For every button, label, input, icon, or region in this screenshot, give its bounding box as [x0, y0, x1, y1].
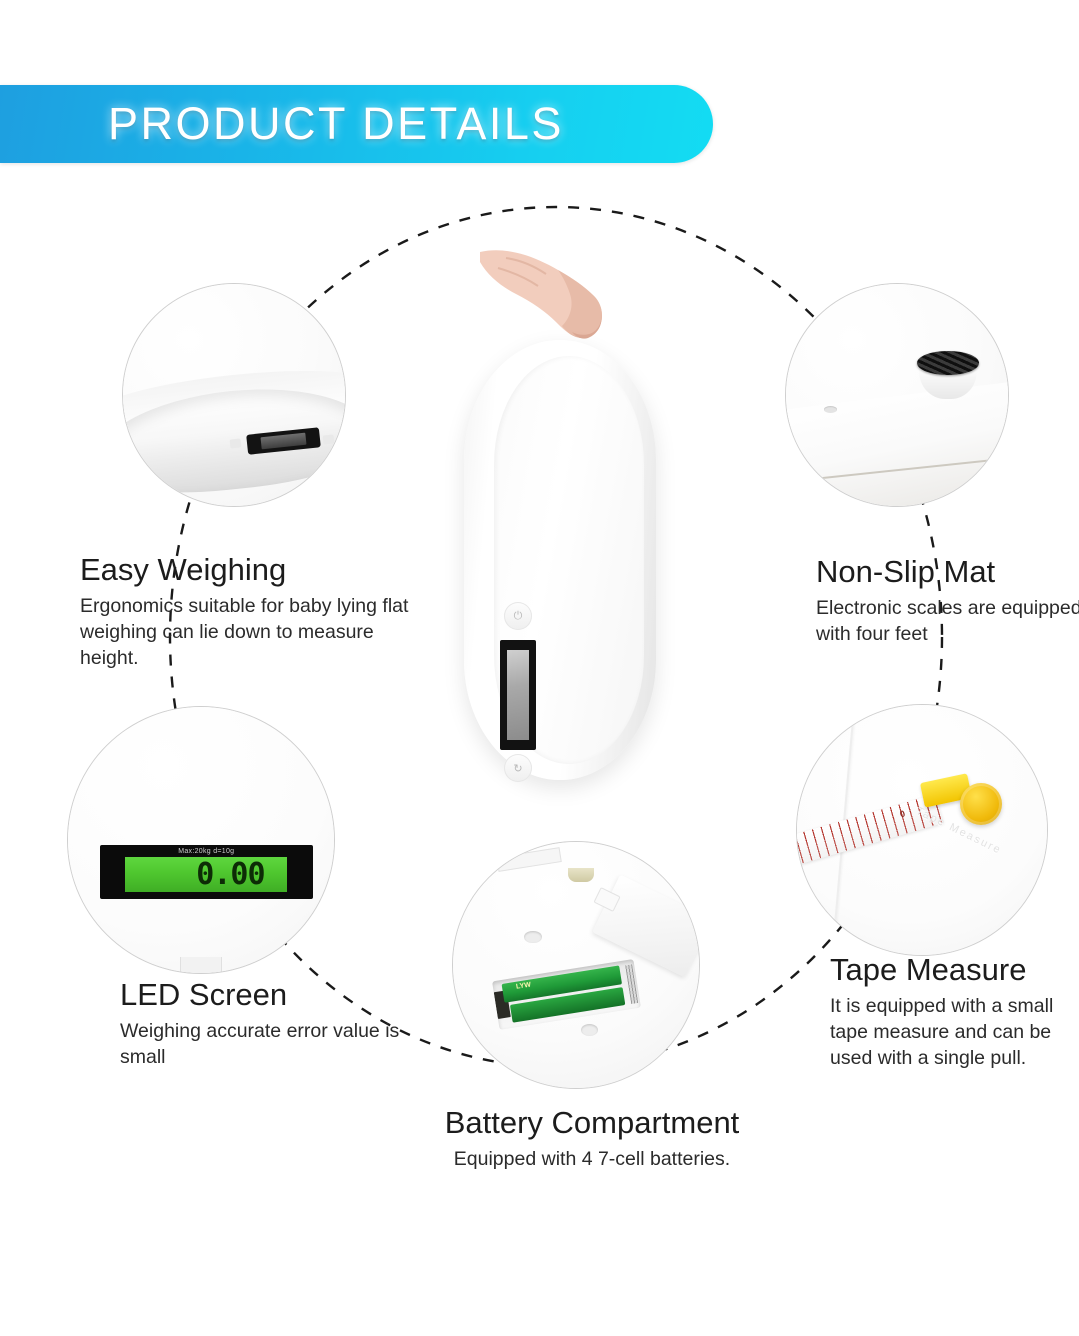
lcd-spec-label: Max:20kg d=10g	[178, 848, 234, 856]
non-slip-rubber-foot-icon	[917, 351, 979, 375]
feature-description: Equipped with 4 7-cell batteries.	[392, 1147, 792, 1173]
feature-text-non-slip-mat: Non-Slip Mat Electronic scales are equip…	[816, 555, 1079, 648]
power-icon: ⏻	[514, 610, 523, 623]
tray-button-left	[229, 439, 241, 449]
feature-title: Easy Weighing	[80, 553, 410, 587]
tray-lcd-glass	[261, 432, 307, 449]
feature-text-led-screen: LED Screen Weighing accurate error value…	[120, 978, 420, 1071]
scale-base-stand	[180, 957, 223, 974]
feature-image-led-screen: Max:20kg d=10g 0.00	[67, 706, 335, 974]
tape-pull-ring-icon	[960, 783, 1003, 826]
lcd-green-backlight: 0.00	[125, 857, 287, 892]
power-button[interactable]: ⏻	[504, 602, 532, 630]
feature-text-battery-compartment: Battery Compartment Equipped with 4 7-ce…	[392, 1106, 792, 1173]
feature-title: LED Screen	[120, 978, 420, 1012]
photo-background	[68, 707, 334, 973]
screw-hole-upper	[524, 931, 541, 943]
screw-hole	[824, 406, 837, 413]
feature-description: It is equipped with a small tape measure…	[830, 994, 1079, 1071]
feature-description: Weighing accurate error value is small	[120, 1019, 420, 1070]
page-header-banner: PRODUCT DETAILS	[0, 85, 713, 163]
tray-button-right	[322, 434, 334, 444]
scale-lcd-glass	[507, 650, 529, 740]
feature-image-easy-weighing	[122, 283, 346, 507]
scale-lcd-panel	[500, 640, 536, 750]
feature-title: Battery Compartment	[392, 1106, 792, 1140]
feature-image-non-slip-mat	[785, 283, 1009, 507]
tare-button[interactable]: ↻	[504, 754, 532, 782]
scale-foot	[568, 868, 594, 882]
feature-title: Tape Measure	[830, 953, 1079, 987]
feature-description: Ergonomics suitable for baby lying flat …	[80, 594, 410, 671]
baby-scale-body: ⏻ ↻	[464, 340, 656, 780]
lcd-bezel: Max:20kg d=10g 0.00	[100, 845, 313, 898]
feature-title: Non-Slip Mat	[816, 555, 1079, 589]
feature-text-easy-weighing: Easy Weighing Ergonomics suitable for ba…	[80, 553, 410, 671]
hero-product-image: ⏻ ↻	[430, 240, 690, 800]
page-title: PRODUCT DETAILS	[108, 98, 564, 150]
lcd-weight-reading: 0.00	[196, 860, 287, 890]
feature-text-tape-measure: Tape Measure It is equipped with a small…	[830, 953, 1079, 1071]
feature-description: Electronic scales are equipped with four…	[816, 596, 1079, 647]
feature-image-tape-measure: 0 Tape Measure	[796, 704, 1048, 956]
tare-icon: ↻	[513, 762, 522, 775]
